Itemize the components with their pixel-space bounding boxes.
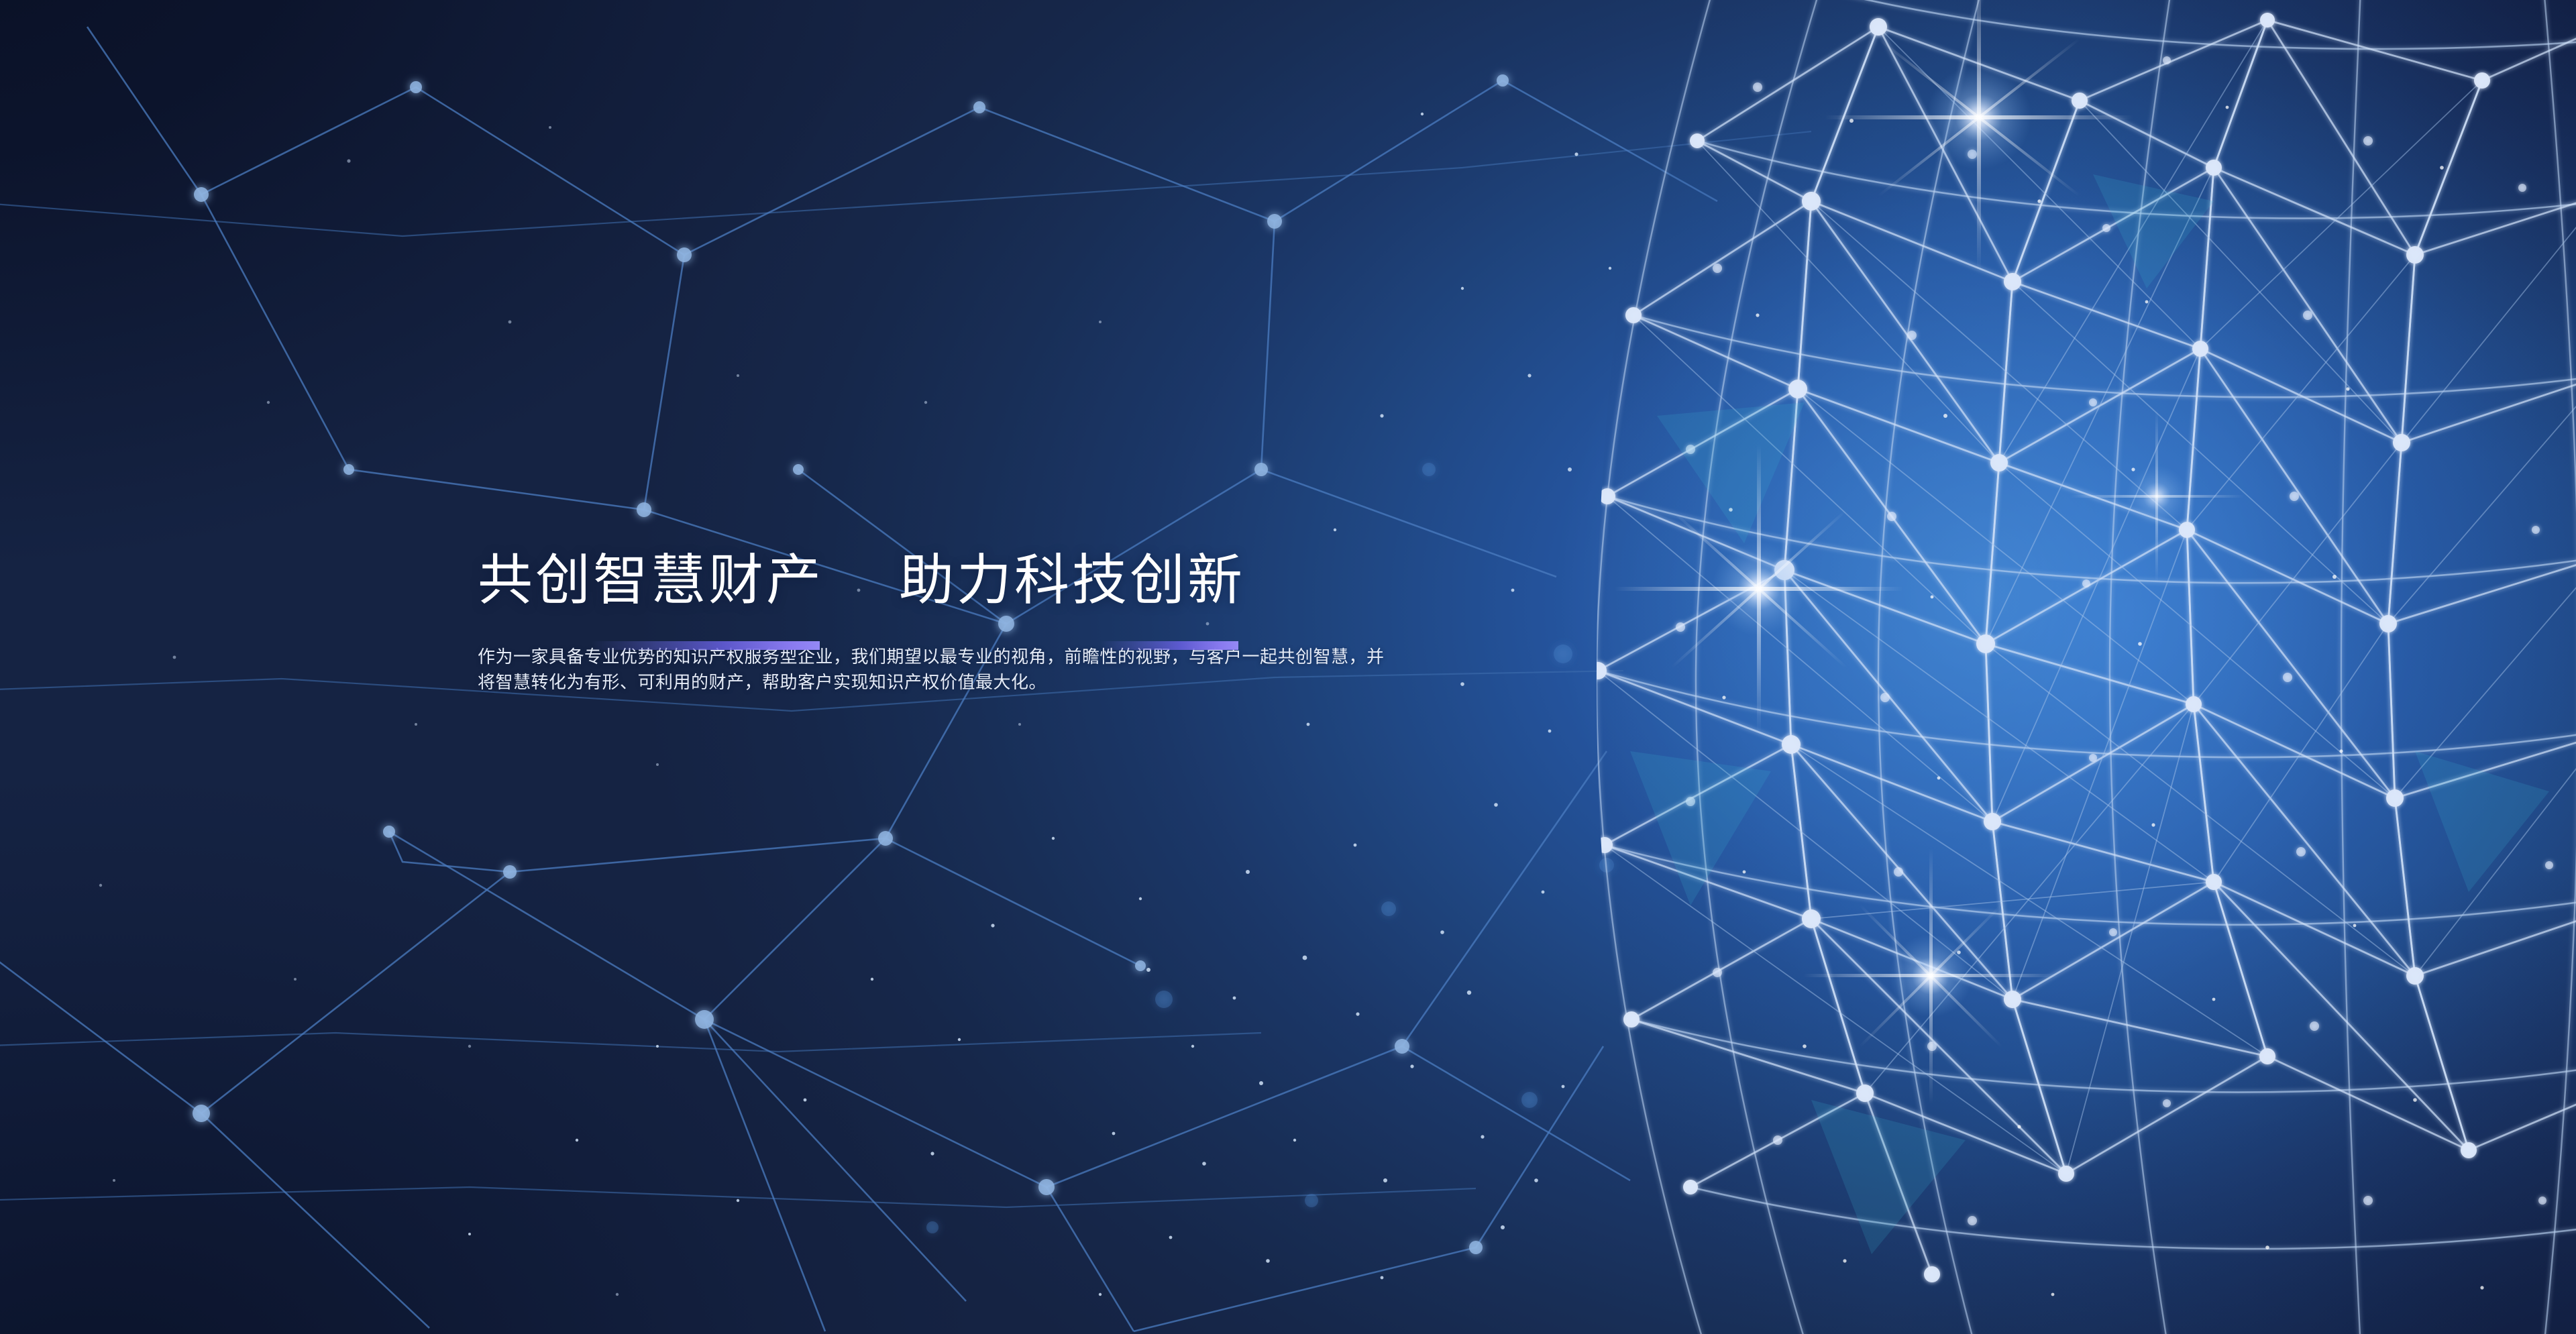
headline-text-2: 助力科技创新	[899, 550, 1245, 612]
headline-accent-bar-1	[592, 641, 820, 650]
headline-segment-1: 共创智慧财产	[478, 550, 824, 612]
hero-text-block: 共创智慧财产 助力科技创新 作为一家具备专业优势的知识产权服务型企业，我们期望以…	[478, 550, 1417, 712]
hero-description: 作为一家具备专业优势的知识产权服务型企业，我们期望以最专业的视角，前瞻性的视野，…	[478, 644, 1397, 695]
hero-banner: 共创智慧财产 助力科技创新 作为一家具备专业优势的知识产权服务型企业，我们期望以…	[0, 0, 2576, 1334]
headline-accent-bar-2	[1100, 641, 1238, 650]
headline-segment-2: 助力科技创新	[899, 550, 1245, 612]
headline-text-1: 共创智慧财产	[478, 550, 824, 612]
page-title: 共创智慧财产 助力科技创新	[478, 550, 1417, 612]
